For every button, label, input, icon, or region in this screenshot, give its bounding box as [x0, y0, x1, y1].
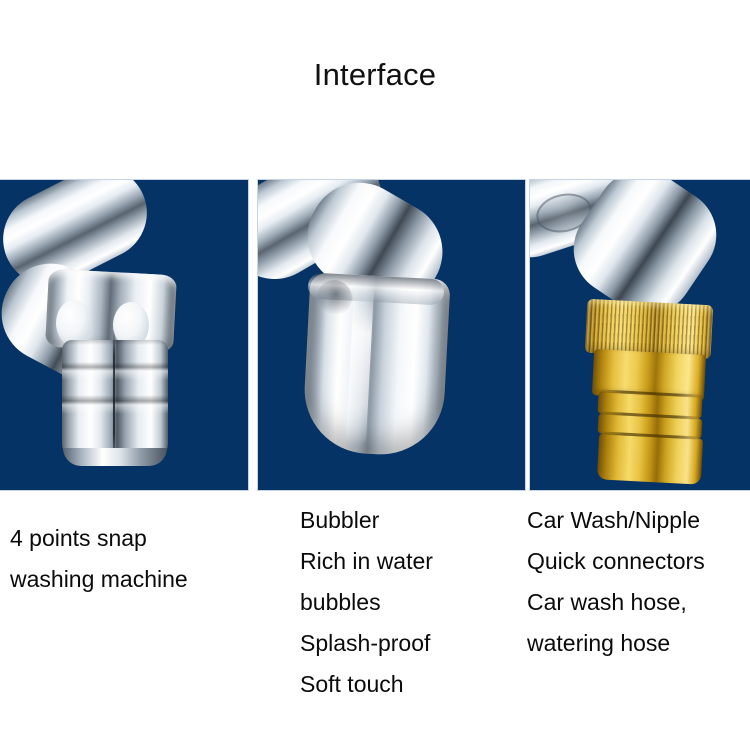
faucet-brass-connector-illustration	[530, 180, 750, 490]
product-image-panel-car-wash	[530, 180, 750, 490]
caption-line: watering hose	[527, 623, 705, 664]
brass-nipple-tip	[597, 433, 703, 484]
product-image-strip	[0, 180, 750, 490]
caption-line: bubbles	[300, 582, 433, 623]
caption-line: Soft touch	[300, 664, 433, 705]
caption-line: washing machine	[10, 559, 188, 600]
faucet-snap-illustration	[0, 180, 248, 490]
product-image-panel-snap	[0, 180, 248, 490]
barrel-tip	[63, 448, 167, 466]
product-image-panel-bubbler	[258, 180, 525, 490]
caption-line: Splash-proof	[300, 623, 433, 664]
caption-line: Car Wash/Nipple	[527, 500, 705, 541]
caption-line: Bubbler	[300, 500, 433, 541]
caption-column-bubbler: Bubbler Rich in water bubbles Splash-pro…	[300, 500, 433, 705]
caption-line: Quick connectors	[527, 541, 705, 582]
ribbed-barrel	[62, 340, 168, 458]
caption-column-snap: 4 points snap washing machine	[10, 518, 188, 600]
caption-line: Rich in water	[300, 541, 433, 582]
faucet-bubbler-illustration	[258, 180, 525, 490]
page-title: Interface	[0, 56, 750, 94]
caption-column-car-wash: Car Wash/Nipple Quick connectors Car was…	[527, 500, 705, 664]
caption-line: 4 points snap	[10, 518, 188, 559]
barrel-seam-line	[113, 330, 115, 460]
bubbler-inner-shadow	[316, 280, 352, 316]
caption-line: Car wash hose,	[527, 582, 705, 623]
